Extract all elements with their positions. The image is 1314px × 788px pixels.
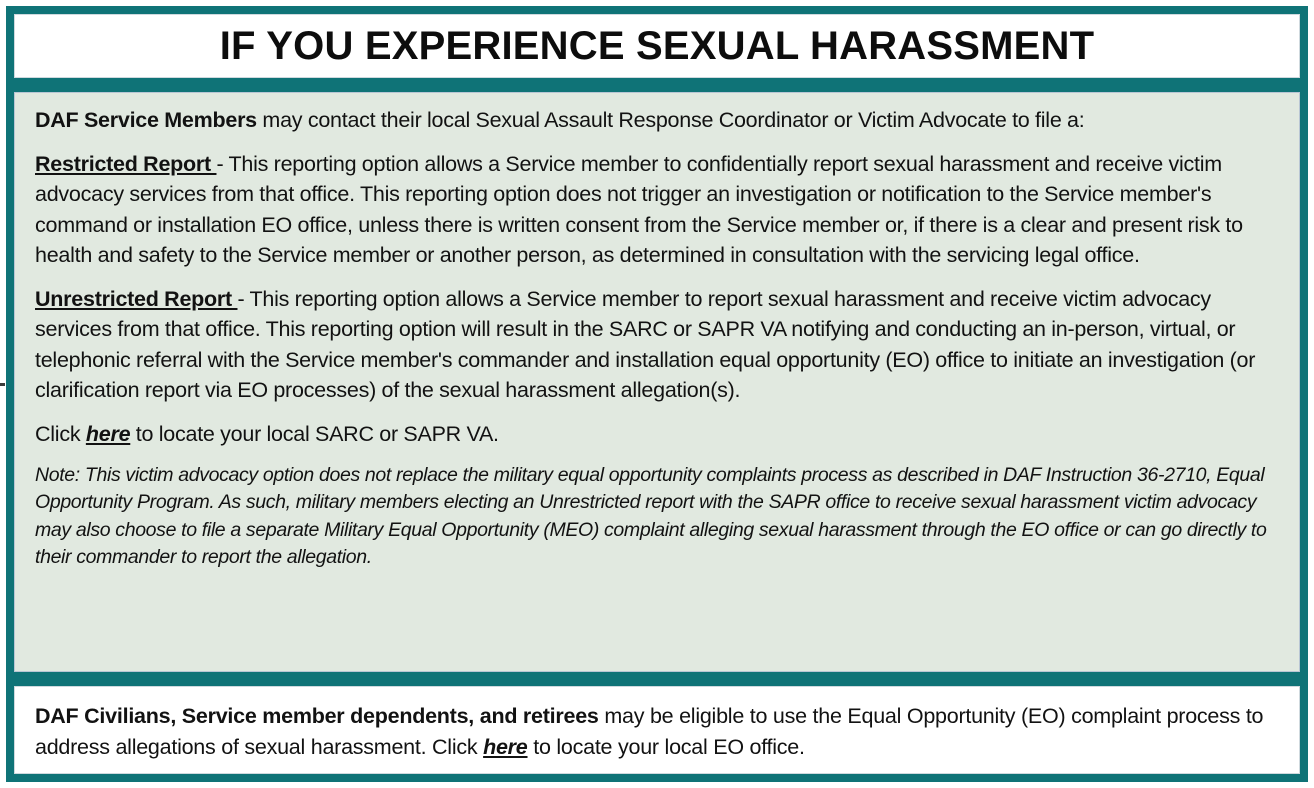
restricted-report-body: - This reporting option allows a Service… [35,152,1243,268]
header-panel: IF YOU EXPERIENCE SEXUAL HARASSMENT [14,14,1300,78]
service-members-panel: DAF Service Members may contact their lo… [14,92,1300,672]
left-edge-tick-mark [0,383,5,386]
intro-rest: may contact their local Sexual Assault R… [257,108,1085,132]
note-paragraph: Note: This victim advocacy option does n… [35,462,1281,571]
restricted-report-heading: Restricted Report [35,152,216,176]
civilians-after-text: to locate your local EO office. [528,735,805,759]
sarc-click-line: Click here to locate your local SARC or … [35,419,1281,450]
intro-lead-bold: DAF Service Members [35,108,257,132]
restricted-report-paragraph: Restricted Report - This reporting optio… [35,149,1281,271]
panel-divider-bottom [14,672,1300,686]
panel-divider-top [14,78,1300,92]
intro-paragraph: DAF Service Members may contact their lo… [35,105,1281,136]
page-title: IF YOU EXPERIENCE SEXUAL HARASSMENT [220,26,1095,66]
sarc-click-before: Click [35,422,86,446]
civilians-panel: DAF Civilians, Service member dependents… [14,686,1300,774]
unrestricted-report-paragraph: Unrestricted Report - This reporting opt… [35,284,1281,406]
eo-here-link[interactable]: here [483,735,527,759]
civilians-lead-bold: DAF Civilians, Service member dependents… [35,704,599,728]
poster-container: IF YOU EXPERIENCE SEXUAL HARASSMENT DAF … [6,6,1308,782]
unrestricted-report-heading: Unrestricted Report [35,287,237,311]
sarc-click-after: to locate your local SARC or SAPR VA. [130,422,499,446]
sarc-here-link[interactable]: here [86,422,130,446]
civilians-paragraph: DAF Civilians, Service member dependents… [35,701,1281,762]
